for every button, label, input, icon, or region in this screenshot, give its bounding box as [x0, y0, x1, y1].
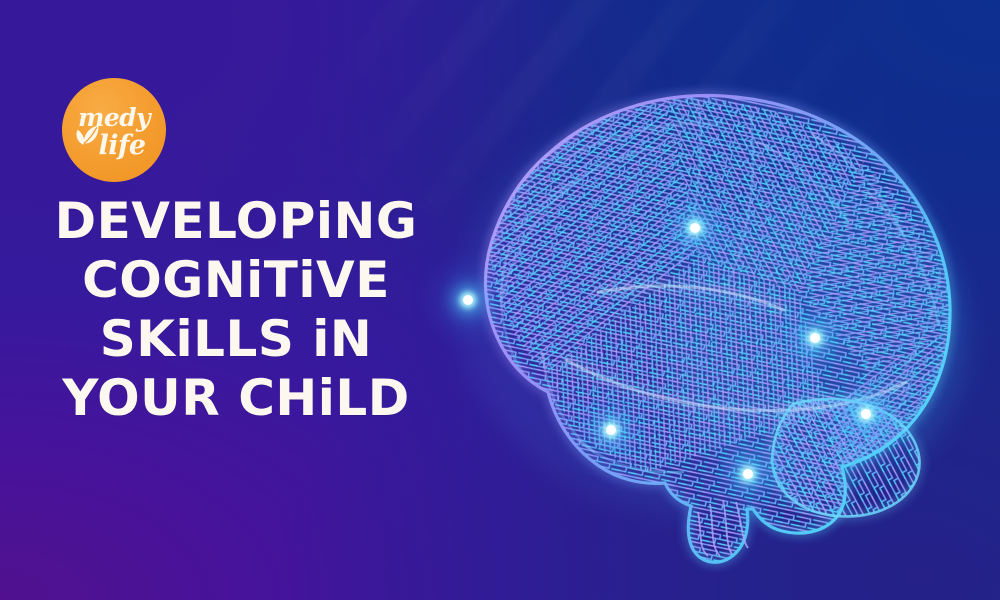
headline-line-2: COGNiTiVE: [26, 251, 446, 310]
page-title: DEVELOPiNG COGNiTiVE SKiLLS iN YOUR CHiL…: [26, 192, 446, 428]
headline-line-4: YOUR CHiLD: [26, 369, 446, 428]
promo-banner: medy life DEVELOPiNG COGNiTiVE SKiLLS iN…: [0, 0, 1000, 600]
headline-line-3: SKiLLS iN: [26, 310, 446, 369]
brain-illustration: [398, 42, 998, 572]
logo-word-life: life: [99, 130, 146, 161]
medylife-logo[interactable]: medy life: [62, 78, 166, 182]
logo-word-medy: medy: [78, 103, 152, 132]
headline-line-1: DEVELOPiNG: [26, 192, 446, 251]
